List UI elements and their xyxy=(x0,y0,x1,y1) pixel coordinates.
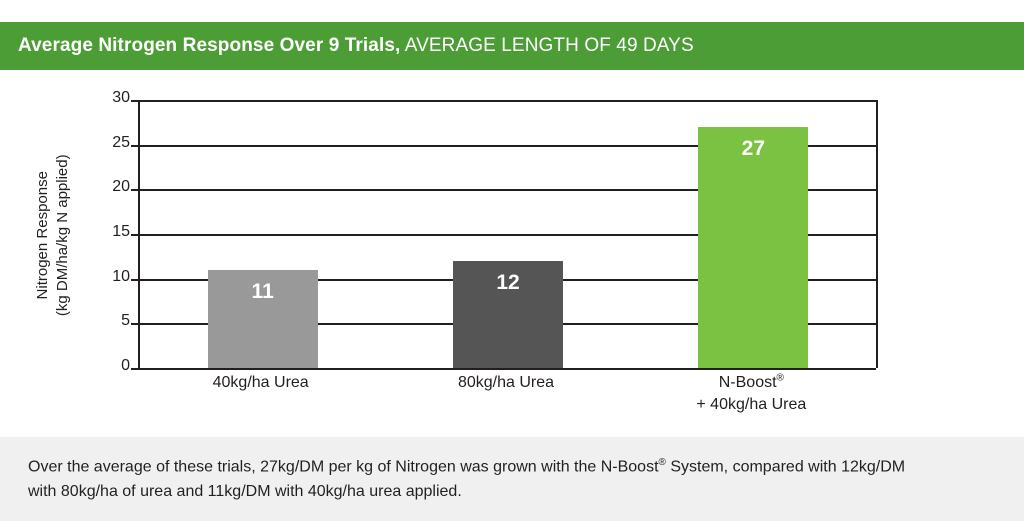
y-axis-tick-label: 5 xyxy=(70,312,130,330)
y-axis-tick-label: 0 xyxy=(70,357,130,375)
y-axis-title: Nitrogen Response (kg DM/ha/kg N applied… xyxy=(33,120,74,350)
y-axis-tick-label: 30 xyxy=(70,89,130,107)
x-axis-category-label: 40kg/ha Urea xyxy=(138,372,383,394)
chart-header-band: Average Nitrogen Response Over 9 Trials,… xyxy=(0,22,1024,70)
y-axis-tick-mark xyxy=(131,279,140,281)
x-axis-baseline xyxy=(140,368,876,370)
y-axis-tick-label: 15 xyxy=(70,223,130,241)
bar: 11 xyxy=(208,270,318,368)
y-axis-tick-label: 25 xyxy=(70,134,130,152)
category-label-line2: + 40kg/ha Urea xyxy=(629,394,874,416)
bar-chart: Nitrogen Response (kg DM/ha/kg N applied… xyxy=(0,70,1024,437)
y-axis-tick-mark xyxy=(131,145,140,147)
y-axis-tick-label: 20 xyxy=(70,178,130,196)
page-title-bold: Average Nitrogen Response Over 9 Trials, xyxy=(18,35,400,56)
y-axis-tick-mark xyxy=(131,234,140,236)
y-axis-tick-mark xyxy=(131,368,140,370)
footer-caption: Over the average of these trials, 27kg/D… xyxy=(28,455,998,505)
bar-value-label: 27 xyxy=(742,137,765,368)
page-title-light: AVERAGE LENGTH OF 49 DAYS xyxy=(405,35,694,56)
bar-value-label: 12 xyxy=(496,271,519,368)
footer-caption-line1: Over the average of these trials, 27kg/D… xyxy=(28,455,998,480)
category-label-line1: 80kg/ha Urea xyxy=(458,374,554,391)
x-axis-category-label: N-Boost®+ 40kg/ha Urea xyxy=(629,372,874,416)
bar: 27 xyxy=(698,127,808,368)
gridline xyxy=(140,100,876,102)
y-axis-tick-label: 10 xyxy=(70,268,130,286)
y-axis-tick-mark xyxy=(131,323,140,325)
y-axis-tick-mark xyxy=(131,189,140,191)
footer-panel: Over the average of these trials, 27kg/D… xyxy=(0,437,1024,521)
bar: 12 xyxy=(453,261,563,368)
x-axis-category-label: 80kg/ha Urea xyxy=(383,372,628,394)
bar-value-label: 11 xyxy=(252,280,274,368)
page-title: Average Nitrogen Response Over 9 Trials,… xyxy=(18,35,694,57)
category-label-line1: N-Boost® xyxy=(719,374,784,391)
category-label-line1: 40kg/ha Urea xyxy=(213,374,309,391)
plot-area: 302520151050 111227 xyxy=(138,100,878,368)
y-axis-tick-mark xyxy=(131,100,140,102)
footer-caption-line2: with 80kg/ha of urea and 11kg/DM with 40… xyxy=(28,480,998,505)
y-axis-title-line1: Nitrogen Response xyxy=(34,171,51,299)
